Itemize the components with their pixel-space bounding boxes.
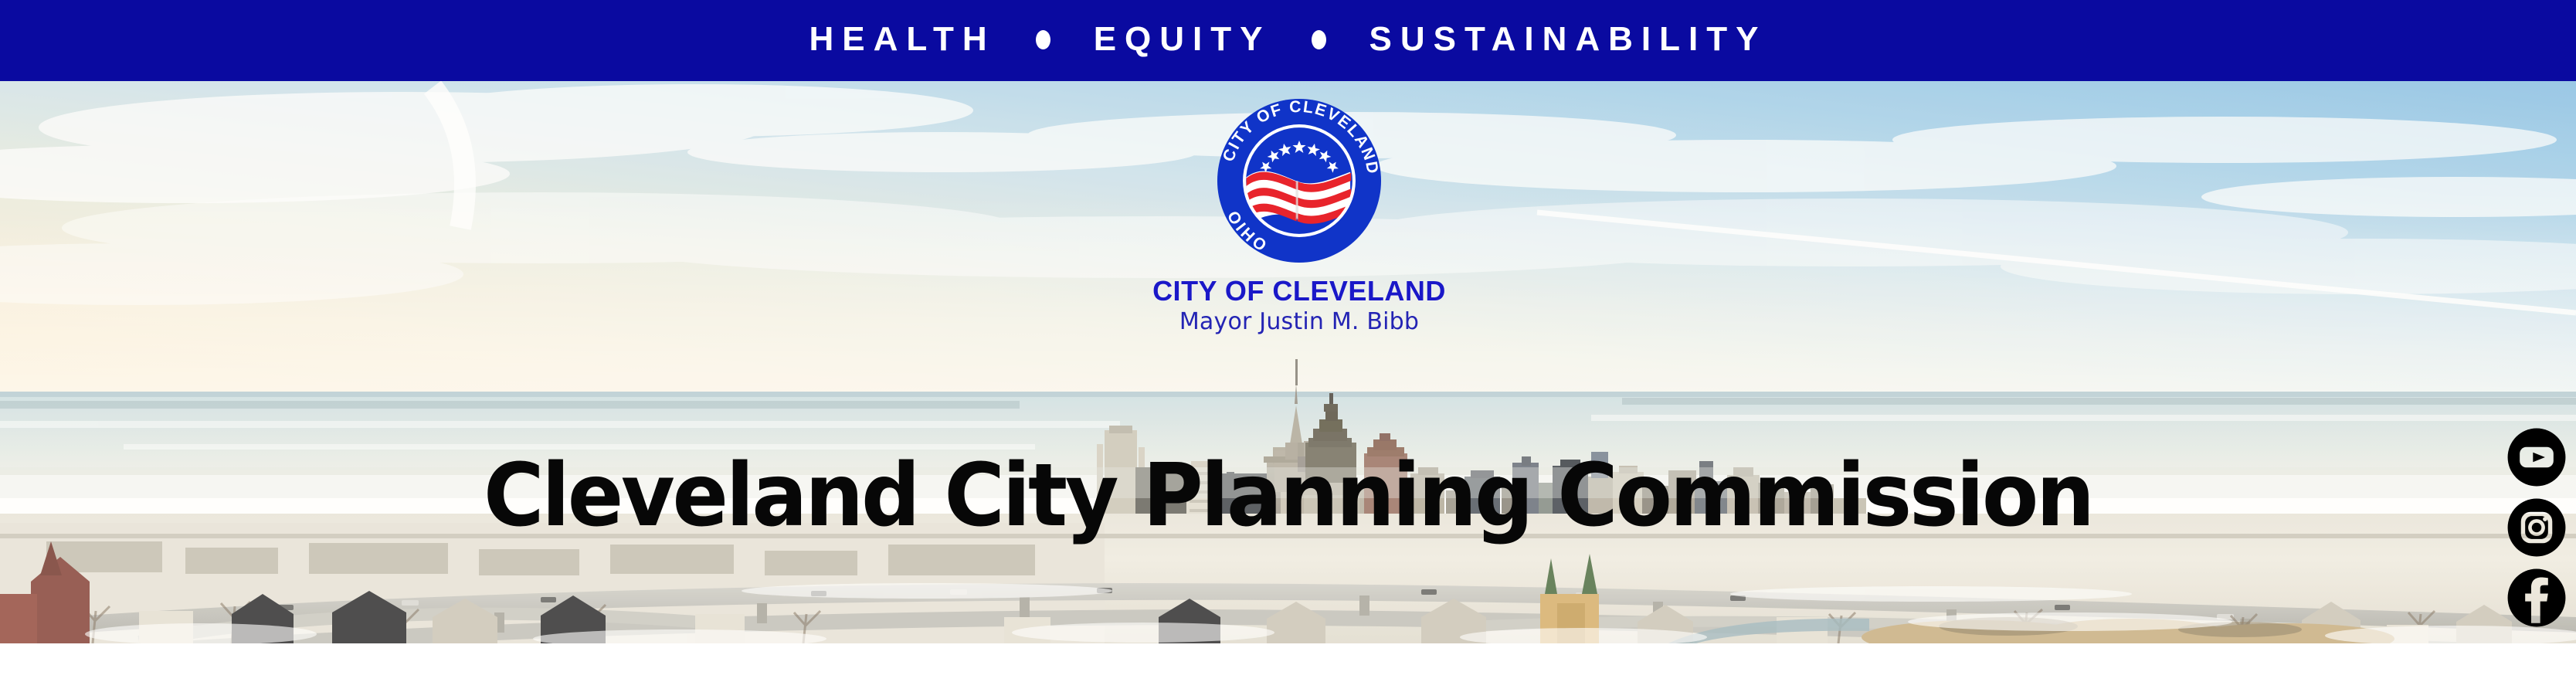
facebook-icon[interactable] (2506, 568, 2567, 628)
instagram-icon[interactable] (2506, 497, 2567, 558)
tagline-word-sustainability: SUSTAINABILITY (1369, 22, 1767, 56)
tagline-word-health: HEALTH (809, 22, 996, 56)
city-branding: CITY OF CLEVELAND OHIO (1106, 93, 1492, 334)
social-links (2506, 427, 2567, 628)
tagline-bullet-icon (1036, 30, 1050, 49)
page-root: HEALTH EQUITY SUSTAINABILITY (0, 0, 2576, 682)
tagline-bullet-icon (1312, 30, 1326, 49)
tagline-banner: HEALTH EQUITY SUSTAINABILITY (0, 0, 2576, 81)
city-of-cleveland-seal-icon: CITY OF CLEVELAND OHIO (1211, 93, 1387, 269)
tagline-group: HEALTH EQUITY SUSTAINABILITY (809, 22, 1767, 56)
mayor-label: Mayor Justin M. Bibb (1106, 310, 1492, 334)
page-title: Cleveland City Planning Commission (58, 453, 2518, 539)
tagline-word-equity: EQUITY (1094, 22, 1271, 56)
youtube-icon[interactable] (2506, 427, 2567, 487)
city-of-cleveland-label: CITY OF CLEVELAND (1106, 277, 1492, 306)
